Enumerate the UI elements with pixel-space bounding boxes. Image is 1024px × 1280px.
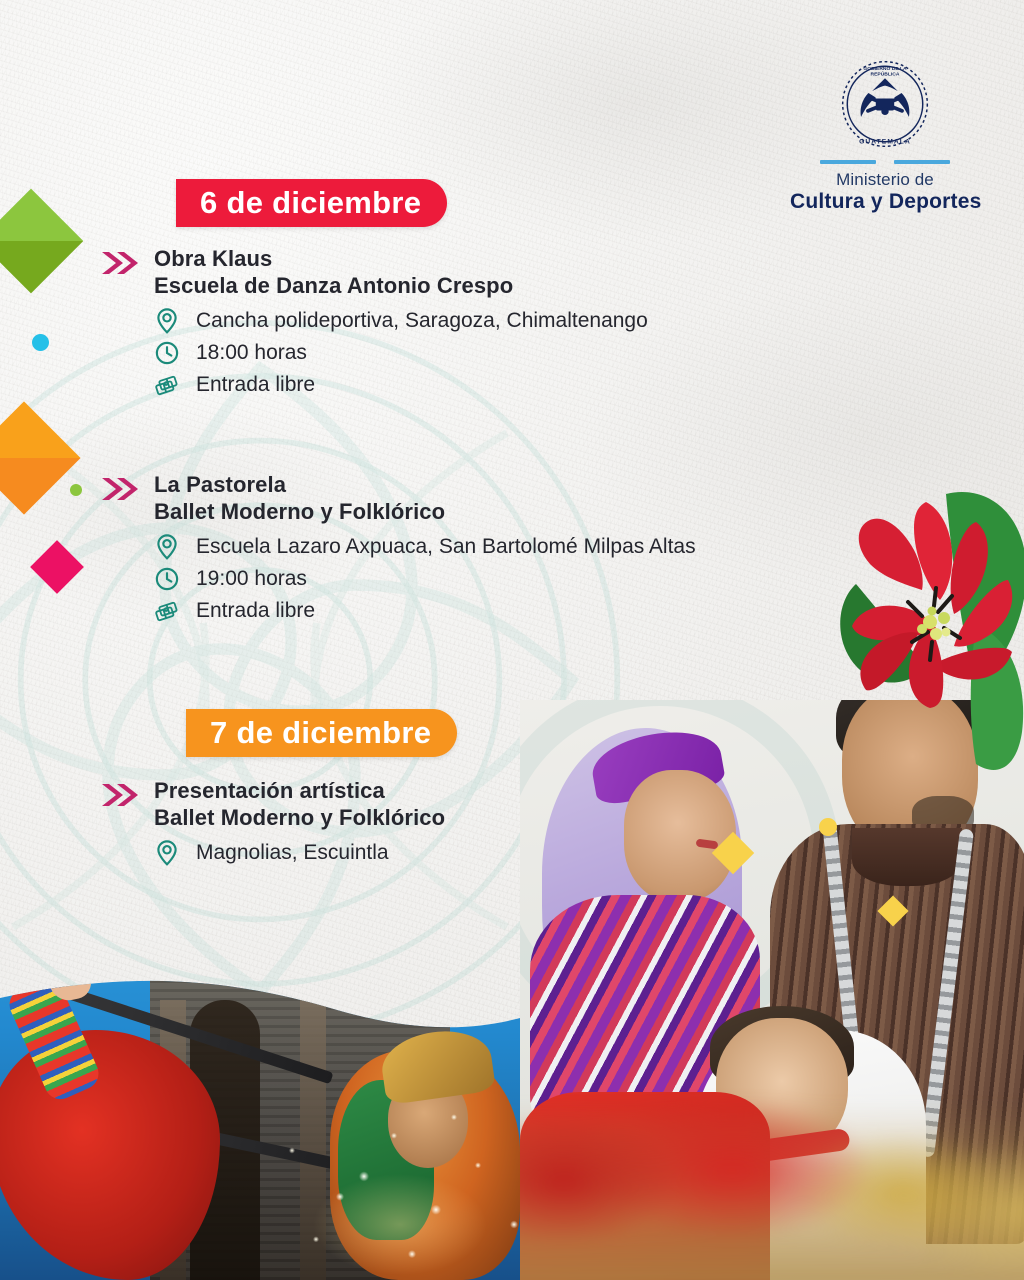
- tickets-icon: [154, 597, 180, 625]
- map-pin-icon: [154, 839, 180, 867]
- event-title-group: Obra Klaus Escuela de Danza Antonio Cres…: [154, 246, 513, 300]
- ministry-logo-block: GOBIERNO DE LA REPÚBLICA GUATEMALA Minis…: [790, 58, 980, 214]
- svg-text:GOBIERNO DE LA: GOBIERNO DE LA: [863, 66, 907, 72]
- date-badge-december-7: 7 de diciembre: [186, 709, 457, 757]
- guatemala-coat-of-arms-icon: GOBIERNO DE LA REPÚBLICA GUATEMALA: [839, 58, 931, 150]
- event-location-row: Cancha polideportiva, Saragoza, Chimalte…: [154, 307, 648, 335]
- event-subtitle: Ballet Moderno y Folklórico: [154, 499, 445, 526]
- event-title: Obra Klaus: [154, 246, 513, 273]
- map-pin-icon: [154, 307, 180, 335]
- event-subtitle: Ballet Moderno y Folklórico: [154, 805, 445, 832]
- event-details: Escuela Lazaro Axpuaca, San Bartolomé Mi…: [100, 533, 696, 625]
- event-heading: Presentación artística Ballet Moderno y …: [100, 778, 445, 832]
- event-time: 18:00 horas: [196, 339, 307, 366]
- poinsettia-icon: [826, 476, 1024, 776]
- event-admission: Entrada libre: [196, 371, 315, 398]
- event-admission-row: Entrada libre: [154, 371, 648, 399]
- event-admission-row: Entrada libre: [154, 597, 696, 625]
- event-la-pastorela: La Pastorela Ballet Moderno y Folklórico…: [100, 472, 696, 629]
- decorative-cyan-dot: [32, 334, 49, 351]
- event-details: Magnolias, Escuintla: [100, 839, 445, 867]
- tickets-icon: [154, 371, 180, 399]
- event-time-row: 18:00 horas: [154, 339, 648, 367]
- event-title-group: Presentación artística Ballet Moderno y …: [154, 778, 445, 832]
- event-title-group: La Pastorela Ballet Moderno y Folklórico: [154, 472, 445, 526]
- event-location: Cancha polideportiva, Saragoza, Chimalte…: [196, 307, 648, 334]
- event-heading: Obra Klaus Escuela de Danza Antonio Cres…: [100, 246, 648, 300]
- clock-icon: [154, 339, 180, 367]
- event-location: Escuela Lazaro Axpuaca, San Bartolomé Mi…: [196, 533, 696, 560]
- event-heading: La Pastorela Ballet Moderno y Folklórico: [100, 472, 696, 526]
- event-time-row: 19:00 horas: [154, 565, 696, 593]
- clock-icon: [154, 565, 180, 593]
- logo-rule-left: [820, 160, 876, 164]
- date-badge-december-6: 6 de diciembre: [176, 179, 447, 227]
- event-title: La Pastorela: [154, 472, 445, 499]
- event-location-row: Escuela Lazaro Axpuaca, San Bartolomé Mi…: [154, 533, 696, 561]
- event-time: 19:00 horas: [196, 565, 307, 592]
- decorative-green-dot: [70, 484, 82, 496]
- accent-yellow-dot: [819, 818, 837, 836]
- double-chevron-right-icon: [100, 781, 140, 809]
- ministry-line-2: Cultura y Deportes: [790, 190, 980, 214]
- map-pin-icon: [154, 533, 180, 561]
- poster-canvas: GOBIERNO DE LA REPÚBLICA GUATEMALA Minis…: [0, 0, 1024, 1280]
- event-subtitle: Escuela de Danza Antonio Crespo: [154, 273, 513, 300]
- event-title: Presentación artística: [154, 778, 445, 805]
- event-obra-klaus: Obra Klaus Escuela de Danza Antonio Cres…: [100, 246, 648, 403]
- ministry-line-1: Ministerio de: [790, 170, 980, 190]
- event-location-row: Magnolias, Escuintla: [154, 839, 445, 867]
- logo-divider-rules: [790, 160, 980, 164]
- logo-rule-right: [894, 160, 950, 164]
- double-chevron-right-icon: [100, 475, 140, 503]
- event-location: Magnolias, Escuintla: [196, 839, 389, 866]
- event-presentacion-artistica: Presentación artística Ballet Moderno y …: [100, 778, 445, 871]
- event-details: Cancha polideportiva, Saragoza, Chimalte…: [100, 307, 648, 399]
- double-chevron-right-icon: [100, 249, 140, 277]
- event-admission: Entrada libre: [196, 597, 315, 624]
- svg-text:GUATEMALA: GUATEMALA: [859, 139, 911, 146]
